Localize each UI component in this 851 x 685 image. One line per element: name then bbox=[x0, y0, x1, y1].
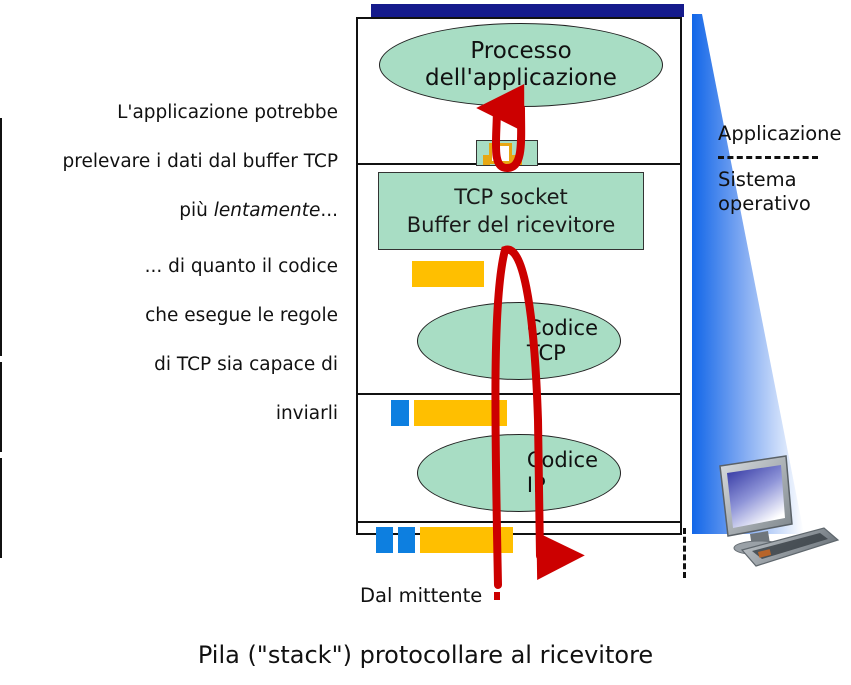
note-slow-line-3: più lentamente... bbox=[0, 199, 338, 224]
process-ellipse: Processo dell'applicazione bbox=[379, 23, 663, 107]
navy-title-bar bbox=[371, 4, 684, 17]
packet-segment-orange bbox=[420, 527, 513, 553]
label-os-line-2: operativo bbox=[718, 192, 848, 216]
packet-segment-blue bbox=[391, 400, 409, 426]
figure-caption: Pila ("stack") protocollare al ricevitor… bbox=[0, 641, 851, 669]
buffer-label-line-2: Buffer del ricevitore bbox=[407, 211, 616, 239]
packet-top bbox=[412, 261, 484, 287]
packet-segment-orange bbox=[412, 261, 484, 287]
packet-segment-blue bbox=[398, 527, 415, 553]
socket-door-icon bbox=[489, 143, 512, 164]
tcp-receive-buffer-box: TCP socket Buffer del ricevitore bbox=[378, 172, 644, 250]
note-fast-line-4: inviarli bbox=[38, 402, 338, 427]
divider-tcp-ip bbox=[356, 393, 682, 395]
label-operating-system: Sistema operativo bbox=[718, 168, 848, 216]
note-tcp-faster: ... di quanto il codice che esegue le re… bbox=[38, 230, 338, 451]
right-dashed-line bbox=[683, 528, 686, 578]
left-edge-rule-bottom bbox=[0, 458, 2, 558]
packet-middle bbox=[391, 400, 507, 426]
note-slow-line-1: L'applicazione potrebbe bbox=[0, 101, 338, 126]
buffer-label-line-1: TCP socket bbox=[454, 183, 568, 211]
packet-segment-orange bbox=[414, 400, 507, 426]
label-os-line-1: Sistema bbox=[718, 168, 848, 192]
note-fast-line-3: di TCP sia capace di bbox=[38, 353, 338, 378]
note-slow-italic: lentamente bbox=[214, 200, 321, 221]
label-application: Applicazione bbox=[718, 122, 842, 146]
left-edge-rule-mid bbox=[0, 362, 2, 452]
label-from-sender: Dal mittente bbox=[360, 584, 482, 607]
ip-label-line-1: Codice bbox=[527, 448, 598, 473]
ip-label-line-2: IP bbox=[527, 473, 598, 498]
note-slow-prefix: più bbox=[179, 200, 214, 221]
packet-segment-blue bbox=[376, 527, 393, 553]
process-label-line-2: dell'applicazione bbox=[425, 65, 617, 92]
ip-code-ellipse: Codice IP bbox=[417, 434, 621, 512]
note-fast-line-2: che esegue le regole bbox=[38, 304, 338, 329]
packet-bottom bbox=[376, 527, 513, 553]
process-label-line-1: Processo bbox=[425, 38, 617, 65]
divider-ip-link bbox=[356, 521, 682, 523]
tcp-label-line-2: TCP bbox=[527, 341, 598, 366]
note-application-slow: L'applicazione potrebbe prelevare i dati… bbox=[0, 76, 338, 248]
socket-chip-right bbox=[512, 155, 522, 165]
tcp-code-ellipse: Codice TCP bbox=[417, 302, 621, 380]
tcp-label-line-1: Codice bbox=[527, 316, 598, 341]
note-slow-suffix: ... bbox=[320, 200, 338, 221]
note-slow-line-2: prelevare i dati dal buffer TCP bbox=[0, 150, 338, 175]
divider-dashed-app-os bbox=[718, 156, 818, 159]
desktop-computer-icon bbox=[712, 452, 840, 570]
note-fast-line-1: ... di quanto il codice bbox=[38, 255, 338, 280]
